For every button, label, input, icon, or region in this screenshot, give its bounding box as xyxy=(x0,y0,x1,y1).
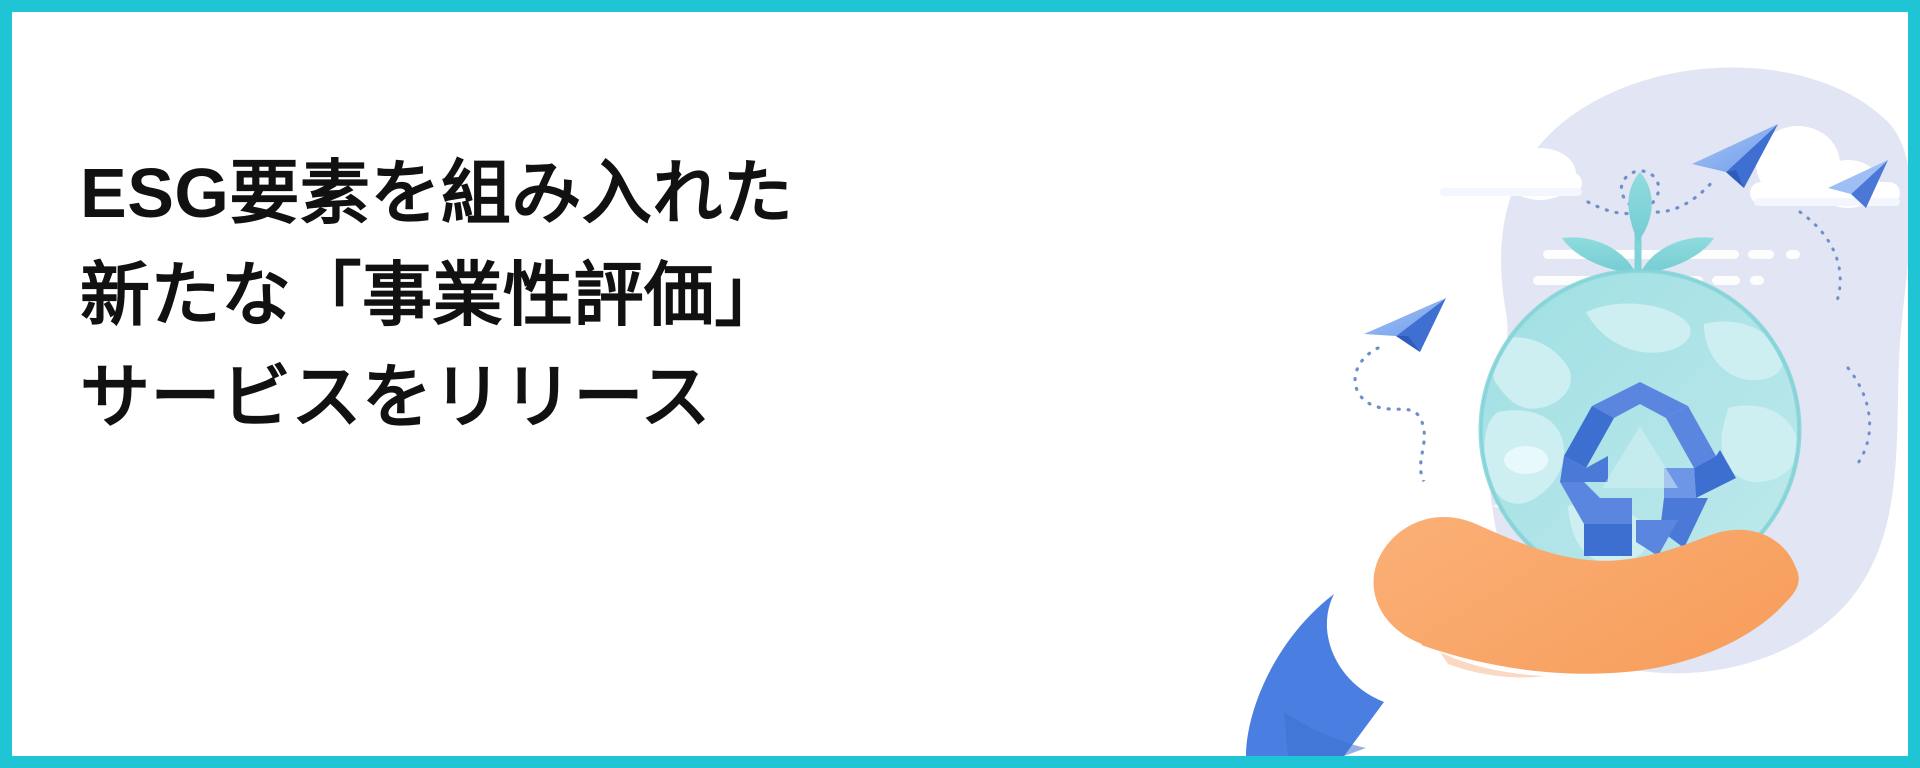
esg-sustainability-illustration xyxy=(1188,12,1908,756)
paper-plane-left xyxy=(1364,298,1446,352)
banner-root: ESG要素を組み入れた 新たな「事業性評価」 サービスをリリース xyxy=(0,0,1920,768)
dotted-wave-path xyxy=(1355,348,1424,482)
headline-line-3: サービスをリリース xyxy=(80,346,940,448)
cloud-top-left xyxy=(1436,110,1582,200)
headline-line-2: 新たな「事業性評価」 xyxy=(80,244,940,346)
banner-inner: ESG要素を組み入れた 新たな「事業性評価」 サービスをリリース xyxy=(12,12,1908,756)
illustration-svg xyxy=(1188,12,1908,756)
page-title: ESG要素を組み入れた 新たな「事業性評価」 サービスをリリース xyxy=(80,142,940,448)
open-hand xyxy=(1246,517,1799,756)
headline-line-1: ESG要素を組み入れた xyxy=(80,142,940,244)
